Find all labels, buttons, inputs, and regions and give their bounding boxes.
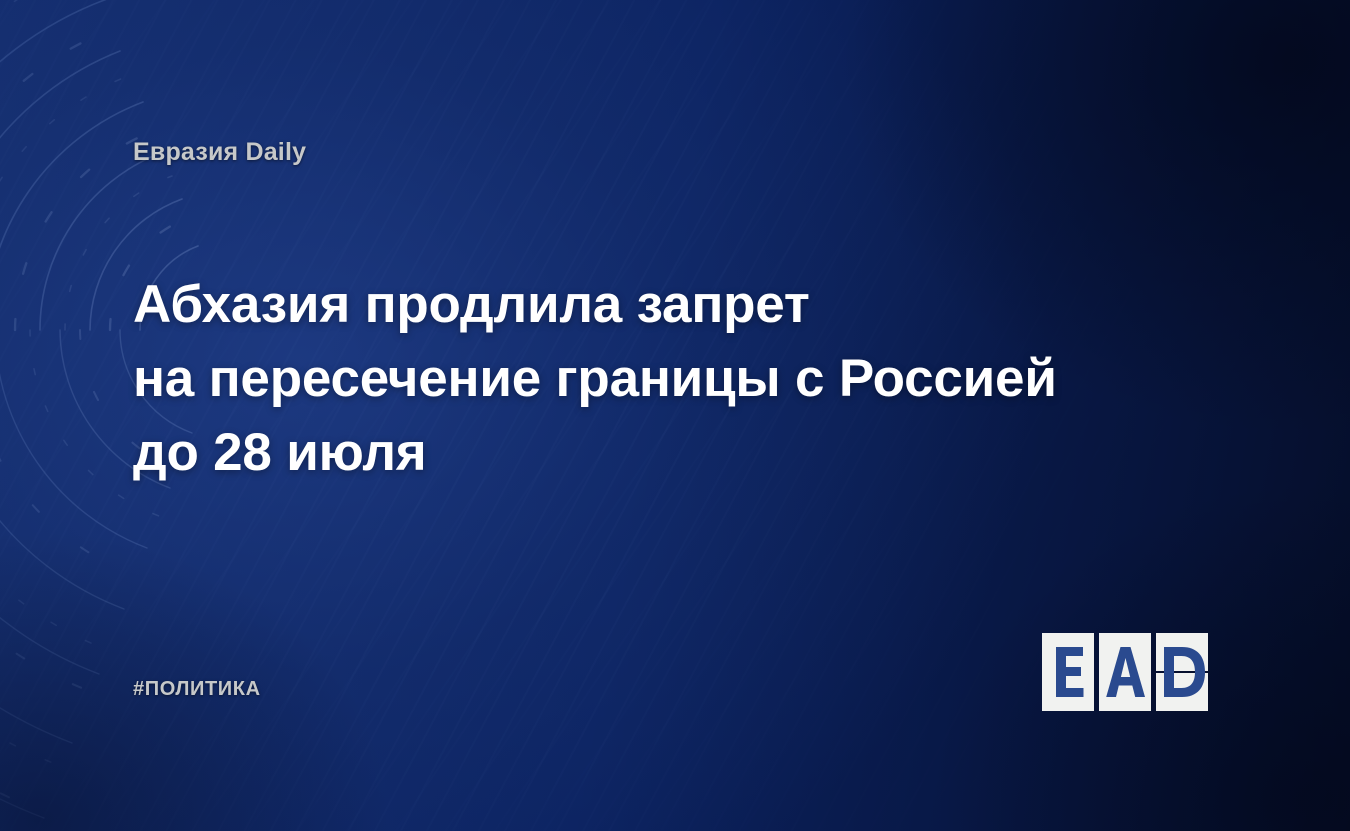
news-card: Евразия Daily Абхазия продлила запрет на… xyxy=(0,0,1350,831)
page-title: Абхазия продлила запрет на пересечение г… xyxy=(133,268,1103,490)
logo-tile-d-split xyxy=(1156,633,1208,711)
logo-tile-e xyxy=(1042,633,1094,711)
headline-line-2: на пересечение границы с Россией xyxy=(133,342,1103,416)
headline-line-1: Абхазия продлила запрет xyxy=(133,268,1103,342)
headline-line-3: до 28 июля xyxy=(133,416,1103,490)
logo-tile-a xyxy=(1099,633,1151,711)
brand-name: Евразия Daily xyxy=(133,138,306,167)
category-tag[interactable]: #ПОЛИТИКА xyxy=(133,678,261,701)
eadaily-logo[interactable] xyxy=(1042,633,1222,711)
eadaily-logo-svg xyxy=(1042,633,1222,711)
card-content: Евразия Daily Абхазия продлила запрет на… xyxy=(0,0,1350,831)
